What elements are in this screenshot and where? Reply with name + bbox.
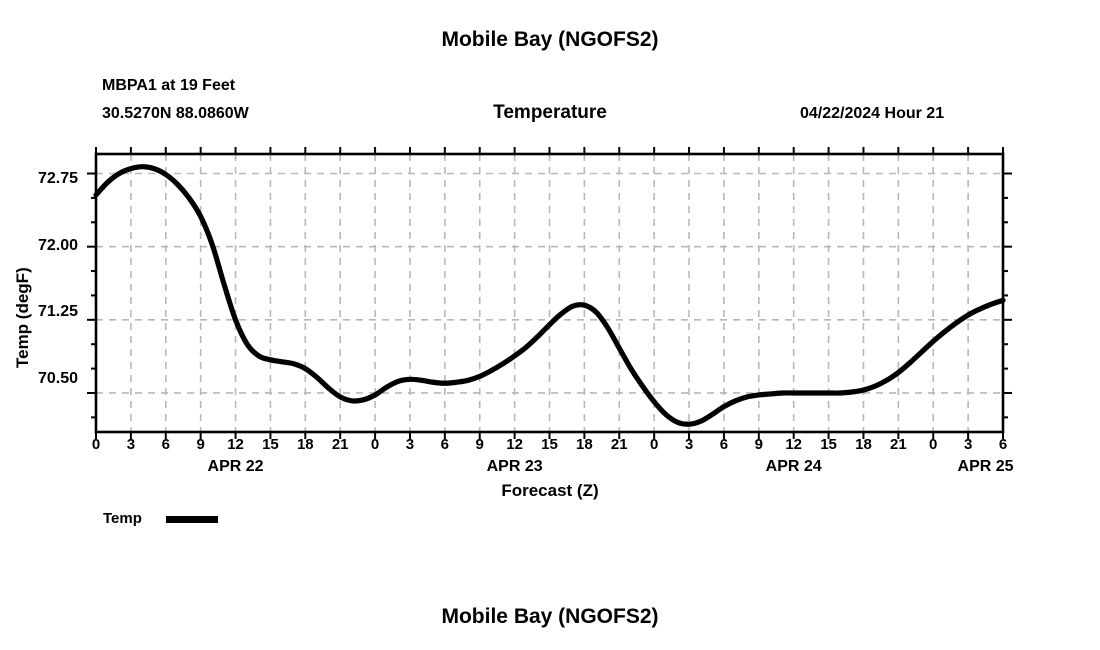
temperature-series-line — [96, 167, 1003, 425]
legend-label-temp: Temp — [103, 511, 142, 526]
y-axis-ticks — [87, 174, 96, 418]
legend-swatch-temp — [166, 516, 218, 523]
day-label: APR 22 — [166, 459, 306, 475]
plot-area — [0, 0, 1100, 650]
day-label: APR 25 — [916, 459, 1056, 475]
x-tick-label: 6 — [983, 437, 1023, 452]
day-label: APR 24 — [724, 459, 864, 475]
forecast-chart-figure: Mobile Bay (NGOFS2) MBPA1 at 19 Feet 30.… — [0, 0, 1100, 650]
footer-title: Mobile Bay (NGOFS2) — [0, 606, 1100, 627]
y-axis-ticks-right — [1003, 174, 1012, 418]
day-label: APR 23 — [445, 459, 585, 475]
